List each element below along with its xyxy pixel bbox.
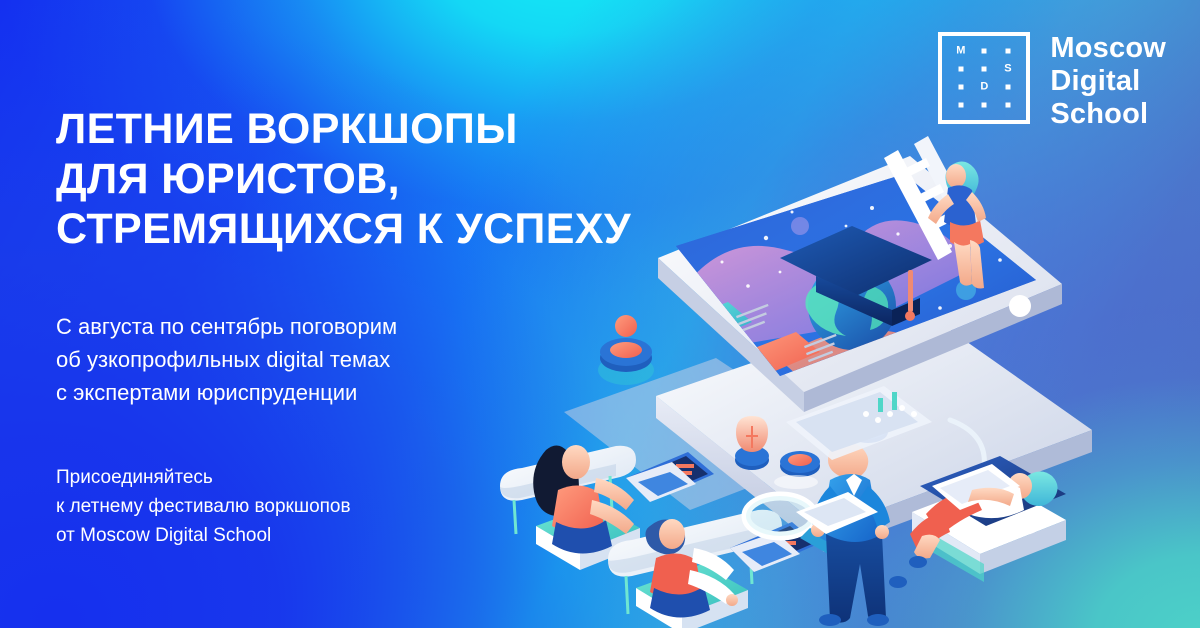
subhead-line-1: С августа по сентябрь поговорим — [56, 310, 397, 343]
logo-wordmark-line-2: Digital — [1050, 65, 1166, 98]
logo-dot — [1005, 49, 1010, 54]
footer-line-2: к летнему фестивалю воркшопов — [56, 492, 351, 521]
logo[interactable]: MSD Moscow Digital School — [938, 32, 1166, 131]
promo-banner: ЛЕТНИЕ ВОРКШОПЫ ДЛЯ ЮРИСТОВ, СТРЕМЯЩИХСЯ… — [0, 0, 1200, 628]
logo-mark-icon: MSD — [938, 32, 1030, 124]
logo-dot — [1005, 102, 1010, 107]
logo-dot — [958, 102, 963, 107]
logo-dot — [982, 102, 987, 107]
headline-line-2: ДЛЯ ЮРИСТОВ, — [56, 154, 631, 204]
logo-letter-m: M — [956, 46, 965, 57]
subheading: С августа по сентябрь поговорим об узкоп… — [56, 310, 397, 409]
logo-letter-s: S — [1004, 63, 1011, 74]
logo-wordmark: Moscow Digital School — [1050, 32, 1166, 131]
logo-dot — [982, 49, 987, 54]
headline-line-1: ЛЕТНИЕ ВОРКШОПЫ — [56, 104, 631, 154]
footer-line-1: Присоединяйтесь — [56, 463, 351, 492]
home-button — [1009, 295, 1031, 317]
logo-letter-d: D — [980, 82, 988, 93]
headline-line-3: СТРЕМЯЩИХСЯ К УСПЕХУ — [56, 204, 631, 254]
copy-block: ЛЕТНИЕ ВОРКШОПЫ ДЛЯ ЮРИСТОВ, СТРЕМЯЩИХСЯ… — [56, 0, 676, 628]
page-title: ЛЕТНИЕ ВОРКШОПЫ ДЛЯ ЮРИСТОВ, СТРЕМЯЩИХСЯ… — [56, 104, 631, 254]
logo-dot — [958, 66, 963, 71]
subhead-line-3: с экспертами юриспруденции — [56, 376, 397, 409]
logo-wordmark-line-3: School — [1050, 98, 1166, 131]
call-to-action-text: Присоединяйтесь к летнему фестивалю ворк… — [56, 463, 351, 550]
logo-dot — [982, 66, 987, 71]
logo-dot — [958, 85, 963, 90]
subhead-line-2: об узкопрофильных digital темах — [56, 343, 397, 376]
logo-wordmark-line-1: Moscow — [1050, 32, 1166, 65]
footer-line-3: от Moscow Digital School — [56, 521, 351, 550]
logo-dot — [1005, 85, 1010, 90]
